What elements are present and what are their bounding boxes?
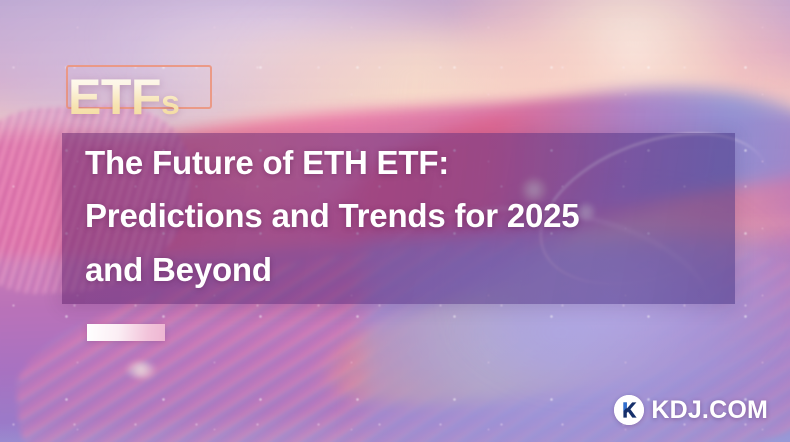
page-title-line-1: The Future of ETH ETF:: [85, 136, 725, 189]
page-title: The Future of ETH ETF: Predictions and T…: [85, 136, 725, 296]
category-tag[interactable]: ETFs: [62, 62, 179, 122]
kdj-logo-icon: [614, 395, 644, 425]
brand-logo[interactable]: KDJ.COM: [614, 395, 768, 425]
category-tag-text: ETFs: [62, 62, 179, 122]
page-title-line-3: and Beyond: [85, 243, 725, 296]
category-tag-suffix: s: [161, 84, 179, 122]
category-tag-main: ETF: [68, 69, 161, 125]
article-hero-banner: ETFs The Future of ETH ETF: Predictions …: [0, 0, 790, 442]
brand-logo-text: KDJ.COM: [651, 398, 768, 423]
page-title-line-2: Predictions and Trends for 2025: [85, 189, 725, 242]
accent-underline-bar: [87, 324, 165, 341]
